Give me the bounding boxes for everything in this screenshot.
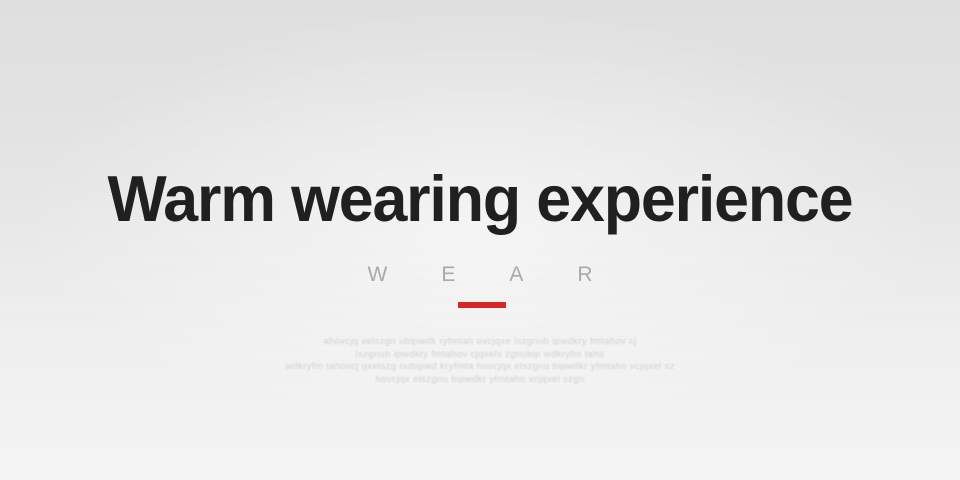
promo-slide: Warm wearing experience WEAR ahovcjq xel… [0, 0, 960, 480]
description-line: hovcjqx elszgnu bipwdkr yfmtaho vcjqxel … [0, 374, 960, 387]
description-paragraph: ahovcjq xelszgn ubipwdk ryfmtah ovcjqxe … [0, 336, 960, 386]
accent-rule-wrapper [0, 302, 960, 308]
accent-rule [458, 302, 506, 308]
description-line: wdkryfm tahovcj qxelszg nubipwd kryfmta … [0, 361, 960, 374]
description-line: lszgnub ipwdkry fmtahov cjqxels zgnubip … [0, 349, 960, 362]
eyebrow-label: WEAR [0, 262, 960, 288]
description-line: ahovcjq xelszgn ubipwdk ryfmtah ovcjqxe … [0, 336, 960, 349]
slide-content: Warm wearing experience WEAR ahovcjq xel… [0, 0, 960, 480]
page-title: Warm wearing experience [17, 163, 943, 235]
